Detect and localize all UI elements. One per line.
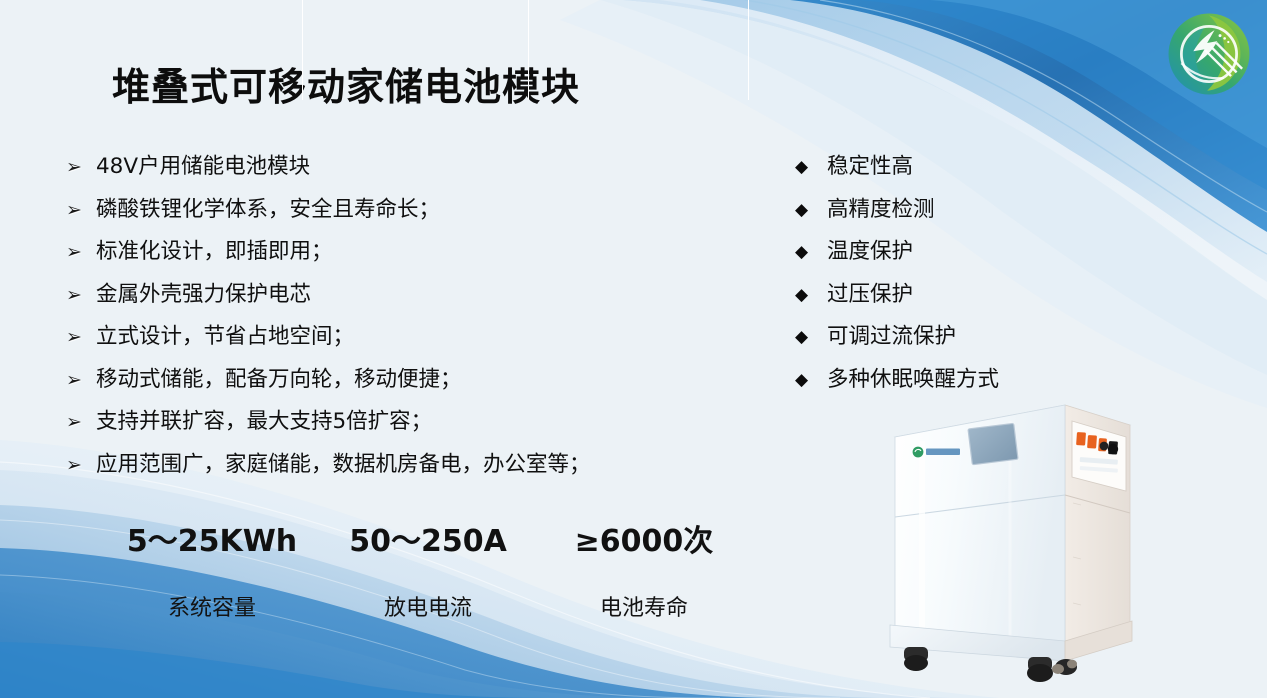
list-item-label: 标准化设计，即插即用；	[96, 235, 333, 269]
stat-battery-life: ≥6000次 电池寿命	[536, 512, 752, 612]
arrow-bullet-icon: ➢	[66, 235, 96, 269]
list-item: ◆ 可调过流保护	[795, 320, 1095, 363]
list-item-label: 移动式储能，配备万向轮，移动便捷；	[96, 363, 462, 397]
list-item: ◆ 温度保护	[795, 235, 1095, 278]
diamond-bullet-icon: ◆	[795, 278, 827, 312]
arrow-bullet-icon: ➢	[66, 363, 96, 397]
page-title: 堆叠式可移动家储电池模块	[112, 56, 580, 111]
list-item: ◆ 高精度检测	[795, 193, 1095, 236]
list-item-label: 过压保护	[827, 278, 913, 312]
list-item-label: 48V户用储能电池模块	[96, 150, 310, 184]
stat-system-capacity: 5〜25KWh 系统容量	[104, 512, 320, 612]
stat-divider	[528, 0, 529, 100]
list-item-label: 高精度检测	[827, 193, 935, 227]
diamond-bullet-icon: ◆	[795, 235, 827, 269]
stat-label: 电池寿命	[600, 590, 688, 622]
arrow-bullet-icon: ➢	[66, 150, 96, 184]
spec-stats-row: 5〜25KWh 系统容量 50〜250A 放电电流 ≥6000次 电池寿命	[104, 512, 752, 612]
stat-value: 50〜250A	[349, 516, 507, 560]
diamond-bullet-icon: ◆	[795, 193, 827, 227]
list-item: ➢ 移动式储能，配备万向轮，移动便捷；	[66, 363, 746, 406]
stat-divider	[748, 0, 749, 100]
right-feature-list: ◆ 稳定性高 ◆ 高精度检测 ◆ 温度保护 ◆ 过压保护 ◆ 可调过流保护 ◆ …	[795, 150, 1095, 405]
list-item-label: 可调过流保护	[827, 320, 956, 354]
stat-discharge-current: 50〜250A 放电电流	[320, 512, 536, 612]
list-item-label: 稳定性高	[827, 150, 913, 184]
list-item-label: 金属外壳强力保护电芯	[96, 278, 311, 312]
list-item-label: 磷酸铁锂化学体系，安全且寿命长；	[96, 193, 440, 227]
list-item: ◆ 过压保护	[795, 278, 1095, 321]
stat-label: 系统容量	[168, 590, 256, 622]
list-item: ◆ 稳定性高	[795, 150, 1095, 193]
list-item-label: 立式设计，节省占地空间；	[96, 320, 354, 354]
list-item-label: 温度保护	[827, 235, 913, 269]
stat-divider	[302, 0, 303, 100]
list-item: ➢ 48V户用储能电池模块	[66, 150, 746, 193]
arrow-bullet-icon: ➢	[66, 320, 96, 354]
stat-value: ≥6000次	[575, 516, 714, 560]
arrow-bullet-icon: ➢	[66, 448, 96, 482]
list-item: ➢ 磷酸铁锂化学体系，安全且寿命长；	[66, 193, 746, 236]
stat-label: 放电电流	[384, 590, 472, 622]
arrow-bullet-icon: ➢	[66, 405, 96, 439]
diamond-bullet-icon: ◆	[795, 320, 827, 354]
diamond-bullet-icon: ◆	[795, 150, 827, 184]
slide-canvas: 堆叠式可移动家储电池模块 ➢ 48V户用储能电池模块 ➢ 磷酸铁锂化学体系，安全…	[0, 0, 1267, 698]
list-item: ➢ 应用范围广，家庭储能，数据机房备电，办公室等；	[66, 448, 746, 491]
list-item: ➢ 支持并联扩容，最大支持5倍扩容；	[66, 405, 746, 448]
list-item: ➢ 立式设计，节省占地空间；	[66, 320, 746, 363]
left-feature-list: ➢ 48V户用储能电池模块 ➢ 磷酸铁锂化学体系，安全且寿命长； ➢ 标准化设计…	[66, 150, 746, 490]
stat-value: 5〜25KWh	[127, 516, 297, 560]
list-item: ➢ 金属外壳强力保护电芯	[66, 278, 746, 321]
company-logo-icon	[1163, 8, 1255, 100]
list-item-label: 支持并联扩容，最大支持5倍扩容；	[96, 405, 432, 439]
arrow-bullet-icon: ➢	[66, 193, 96, 227]
list-item-label: 应用范围广，家庭储能，数据机房备电，办公室等；	[96, 448, 591, 482]
arrow-bullet-icon: ➢	[66, 278, 96, 312]
list-item: ➢ 标准化设计，即插即用；	[66, 235, 746, 278]
diamond-bullet-icon: ◆	[795, 363, 827, 397]
product-image-battery-cabinet	[860, 385, 1160, 685]
